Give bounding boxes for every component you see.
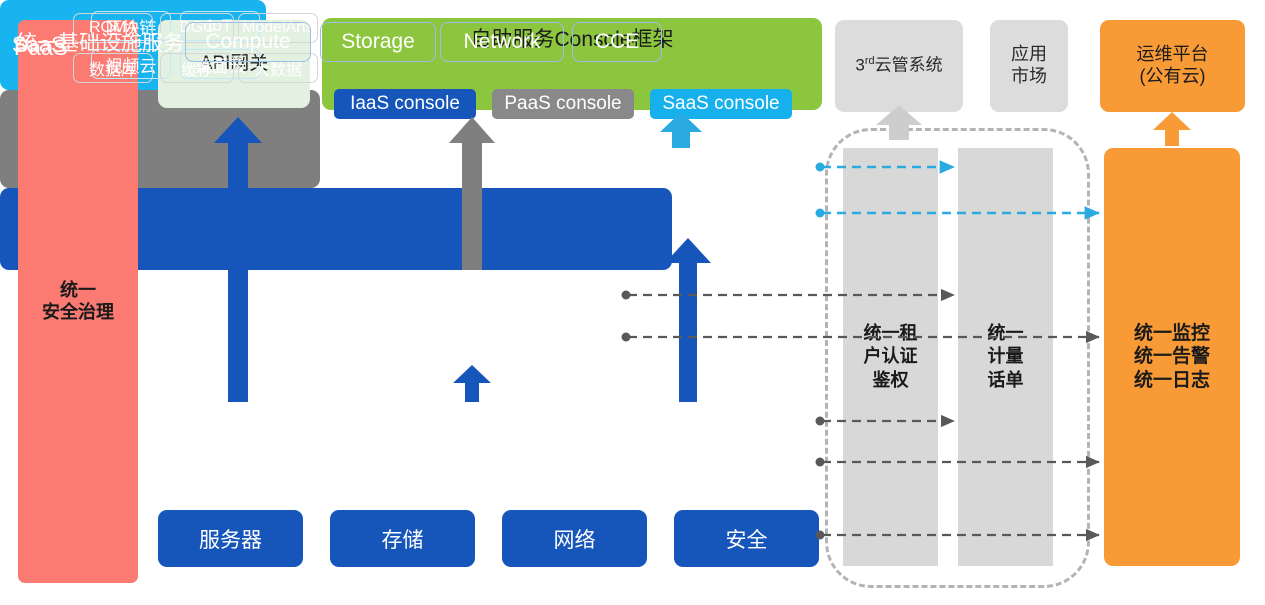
architecture-diagram: 统一 安全治理 API网关 自助服务Console框架 IaaS console… xyxy=(0,0,1265,605)
resource-box-storage: 存储 xyxy=(330,510,475,567)
third-party-prefix: 3 xyxy=(855,56,864,75)
unified-tenant-auth-column: 统一租 户认证 鉴权 xyxy=(843,148,938,566)
infrastructure-layer-label: 统一基础设施服务 xyxy=(16,27,184,57)
third-party-cloud-label: 3rd云管系统 xyxy=(855,55,942,76)
infra-chip-storage[interactable]: Storage xyxy=(320,22,436,62)
saas-console-chip[interactable]: SaaS console xyxy=(650,89,792,119)
infra-chip-compute[interactable]: Compute xyxy=(185,22,311,62)
iaas-console-chip[interactable]: IaaS console xyxy=(334,89,476,119)
arrow-capsule-to-ops-platform xyxy=(1153,112,1191,146)
third-party-suffix: 云管系统 xyxy=(875,56,943,75)
resource-box-network: 网络 xyxy=(502,510,647,567)
infra-chip-network[interactable]: Network xyxy=(440,22,564,62)
arrow-infra-to-saas xyxy=(665,238,711,402)
ops-platform-box: 运维平台 (公有云) xyxy=(1100,20,1245,112)
resource-box-security: 安全 xyxy=(674,510,819,567)
app-market-box: 应用 市场 xyxy=(990,20,1068,112)
security-governance-panel: 统一 安全治理 xyxy=(18,20,138,583)
unified-metering-billing-column: 统一 计量 话单 xyxy=(958,148,1053,566)
third-party-ordinal: rd xyxy=(865,55,875,67)
arrow-infra-to-paas xyxy=(453,365,491,402)
resource-box-server: 服务器 xyxy=(158,510,303,567)
paas-console-chip[interactable]: PaaS console xyxy=(492,89,634,119)
infra-chip-cce[interactable]: CCE xyxy=(572,22,662,62)
paas-chip-database[interactable]: 数据库 xyxy=(73,53,153,83)
third-party-cloud-box: 3rd云管系统 xyxy=(835,20,963,112)
ops-platform-panel: 统一监控 统一告警 统一日志 xyxy=(1104,148,1240,566)
